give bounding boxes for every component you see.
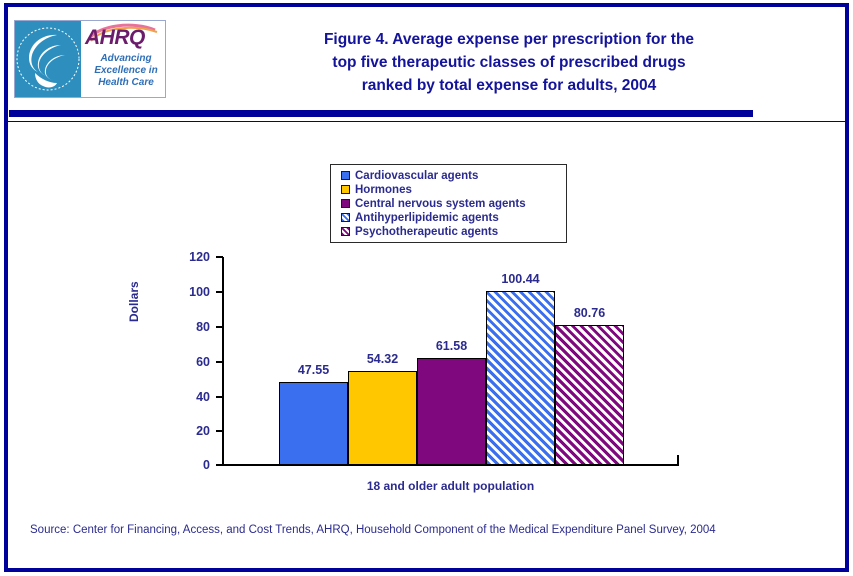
- figure-screenshot: AHRQ Advancing Excellence in Health Care…: [0, 0, 853, 576]
- legend-item-cardiovascular-agents: Cardiovascular agents: [341, 169, 561, 182]
- bar-psychotherapeutic-agents: [555, 325, 624, 465]
- y-tick-label-120: 120: [170, 251, 210, 263]
- bar-value-cardiovascular-agents: 47.55: [279, 363, 348, 377]
- bar-value-psychotherapeutic-agents: 80.76: [555, 306, 624, 320]
- legend-label-central-nervous-system-agents: Central nervous system agents: [355, 198, 526, 210]
- legend-swatch-cardiovascular-agents: [341, 171, 350, 180]
- y-tick-100: [216, 291, 223, 293]
- x-axis-label: 18 and older adult population: [222, 479, 679, 493]
- y-tick-label-20: 20: [170, 425, 210, 437]
- bar-central-nervous-system-agents: [417, 358, 486, 465]
- y-tick-label-80: 80: [170, 321, 210, 333]
- chart-legend: Cardiovascular agents Hormones Central n…: [330, 164, 567, 243]
- legend-label-antihyperlipidemic-agents: Antihyperlipidemic agents: [355, 212, 499, 224]
- legend-swatch-antihyperlipidemic-agents: [341, 213, 350, 222]
- bar-antihyperlipidemic-agents: [486, 291, 555, 465]
- y-tick-40: [216, 396, 223, 398]
- legend-item-psychotherapeutic-agents: Psychotherapeutic agents: [341, 225, 561, 238]
- x-axis-line: [222, 464, 679, 466]
- bar-value-antihyperlipidemic-agents: 100.44: [486, 272, 555, 286]
- legend-item-hormones: Hormones: [341, 183, 561, 196]
- y-tick-120: [216, 256, 223, 258]
- y-tick-80: [216, 326, 223, 328]
- legend-label-hormones: Hormones: [355, 184, 412, 196]
- y-tick-label-40: 40: [170, 391, 210, 403]
- y-axis-label: Dollars: [127, 281, 141, 322]
- legend-swatch-hormones: [341, 185, 350, 194]
- y-tick-60: [216, 361, 223, 363]
- legend-label-psychotherapeutic-agents: Psychotherapeutic agents: [355, 226, 498, 238]
- y-tick-20: [216, 430, 223, 432]
- y-tick-label-100: 100: [170, 286, 210, 298]
- bar-cardiovascular-agents: [279, 382, 348, 465]
- legend-swatch-central-nervous-system-agents: [341, 199, 350, 208]
- legend-item-antihyperlipidemic-agents: Antihyperlipidemic agents: [341, 211, 561, 224]
- legend-item-central-nervous-system-agents: Central nervous system agents: [341, 197, 561, 210]
- bar-chart: Cardiovascular agents Hormones Central n…: [0, 0, 853, 576]
- bar-value-central-nervous-system-agents: 61.58: [417, 339, 486, 353]
- y-tick-label-60: 60: [170, 356, 210, 368]
- source-note: Source: Center for Financing, Access, an…: [30, 524, 716, 536]
- legend-label-cardiovascular-agents: Cardiovascular agents: [355, 170, 478, 182]
- y-tick-label-0: 0: [170, 459, 210, 471]
- bar-hormones: [348, 371, 417, 465]
- bar-value-hormones: 54.32: [348, 352, 417, 366]
- x-axis-end-tick: [677, 455, 679, 466]
- legend-swatch-psychotherapeutic-agents: [341, 227, 350, 236]
